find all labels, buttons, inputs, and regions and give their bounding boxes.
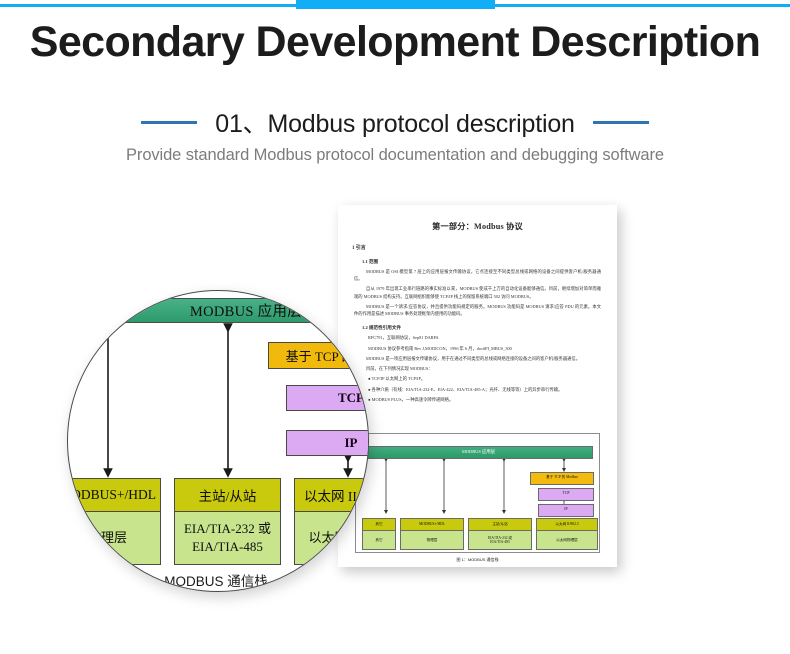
magnified-column-bottom: 物理层 bbox=[67, 512, 161, 565]
section-heading-label: 01、Modbus protocol description bbox=[215, 104, 574, 140]
doc-list-item: ● 各种介质（有线：EIA/TIA-232-E、EIA-422、EIA/TIA-… bbox=[368, 386, 601, 393]
doc-diagram-app-layer: MODBUS 应用层 bbox=[364, 446, 593, 459]
modbus-protocol-document-page: 第一部分：Modbus 协议 1 引言 1.1 范围 MODBUS 是 OSI … bbox=[338, 205, 617, 567]
doc-paragraph: MODBUS 是一个请求/应答协议，并且提供功能码规定的服务。MODBUS 功能… bbox=[354, 303, 601, 317]
section-heading-row: 01、Modbus protocol description bbox=[0, 104, 790, 140]
doc-diagram-col-bottom: EIA/TIA-232 或 EIA/TIA-485 bbox=[468, 530, 532, 550]
magnified-column-bottom: 以太网物理层 bbox=[294, 512, 369, 565]
doc-diagram-col-bottom: 以太网物理层 bbox=[536, 530, 598, 550]
doc-list-item: ● MODBUS PLUS，一种高速令牌传递网络。 bbox=[368, 396, 601, 403]
page-title: Secondary Development Description bbox=[0, 18, 790, 67]
section-subtitle: Provide standard Modbus protocol documen… bbox=[0, 146, 790, 165]
magnified-ip-box: IP bbox=[286, 430, 369, 456]
top-accent-block bbox=[296, 0, 495, 9]
magnified-app-layer-box: MODBUS 应用层 bbox=[81, 298, 369, 323]
doc-modbus-stack-diagram: MODBUS 应用层 基于 TCP 的 Modbus TCP IP 其它 其它 … bbox=[355, 433, 600, 553]
doc-title: 第一部分：Modbus 协议 bbox=[338, 220, 617, 232]
doc-paragraph: 自从 1979 年出现工业串行链路的事实标准以来，MODBUS 使成千上万的自动… bbox=[354, 285, 601, 299]
doc-list-item: ● TCP/IP 以太网上的 TCP/IP。 bbox=[368, 375, 601, 382]
doc-reference-item: MODBUS 协议参考指南 Rev J,MODICON，1996 年 6 月，d… bbox=[368, 345, 601, 352]
magnified-column-top: 以太网 II/802.3 bbox=[294, 478, 369, 512]
magnified-column: 主站/从站 EIA/TIA-232 或 EIA/TIA-485 bbox=[174, 478, 281, 565]
doc-diagram-tcp-modbus: 基于 TCP 的 Modbus bbox=[530, 472, 594, 485]
doc-heading-1-2: 1.2 规范性引用文件 bbox=[362, 325, 617, 331]
magnifier-lens: MODBUS 应用层 基于 TCP 的 Modbus TCP IP MODBUS… bbox=[67, 290, 369, 592]
doc-heading-1: 1 引言 bbox=[352, 244, 617, 251]
magnified-tcp-modbus-box: 基于 TCP 的 Modbus bbox=[268, 342, 369, 369]
magnified-modbus-stack-diagram: MODBUS 应用层 基于 TCP 的 Modbus TCP IP MODBUS… bbox=[67, 290, 369, 592]
magnified-column-bottom: EIA/TIA-232 或 EIA/TIA-485 bbox=[174, 512, 281, 565]
doc-diagram-caption: 图 1：MODBUS 通信栈 bbox=[338, 557, 617, 563]
doc-paragraph: MODBUS 是一项应用层报文传输协议，用于在通过不同类型的总线或网络连接的设备… bbox=[354, 355, 601, 362]
doc-paragraph: MODBUS 是 OSI 模型第 7 层上的应用层报文传输协议，它点连接至不同类… bbox=[354, 268, 601, 282]
magnified-column: 以太网 II/802.3 以太网物理层 bbox=[294, 478, 369, 565]
doc-diagram-ip: IP bbox=[538, 504, 594, 517]
rule-dash-right bbox=[593, 121, 649, 124]
magnified-column: MODBUS+/HDL 物理层 bbox=[67, 478, 161, 565]
doc-heading-1-1: 1.1 范围 bbox=[362, 259, 617, 265]
doc-paragraph: 目前，在下列情况实现 MODBUS： bbox=[354, 365, 601, 372]
magnified-tcp-box: TCP bbox=[286, 385, 369, 411]
magnified-diagram-caption: 图 1：MODBUS 通信栈 bbox=[126, 570, 268, 590]
doc-reference-item: RFC791，互联网协议，Sep81 DARPA bbox=[368, 334, 601, 341]
doc-diagram-col-bottom: 物理层 bbox=[400, 530, 464, 550]
rule-dash-left bbox=[141, 121, 197, 124]
magnified-column-top: MODBUS+/HDL bbox=[67, 478, 161, 512]
doc-diagram-tcp: TCP bbox=[538, 488, 594, 501]
magnified-column-top: 主站/从站 bbox=[174, 478, 281, 512]
